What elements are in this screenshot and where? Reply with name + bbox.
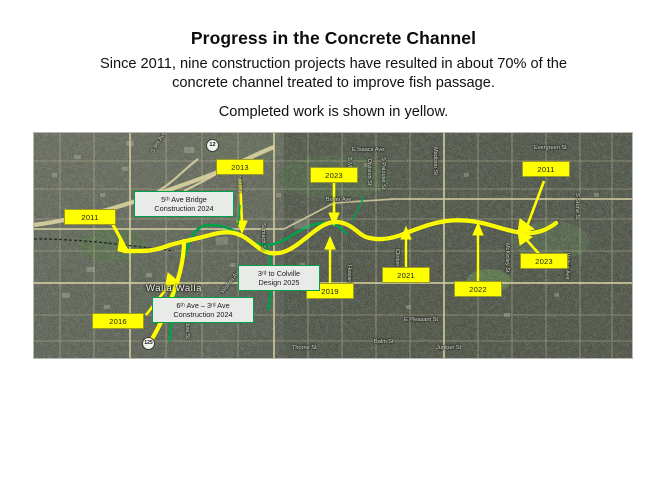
year-label-2022[interactable]: 2022 — [454, 281, 502, 297]
project-label-5th-ave-bridge[interactable]: 5ᵗʰ Ave Bridge Construction 2024 — [134, 191, 234, 217]
year-label-2011-west[interactable]: 2011 — [64, 209, 116, 225]
project-label-3rd-to-colville[interactable]: 3ʳᵈ to Colville Design 2025 — [238, 265, 320, 291]
highway-shield-sr-125[interactable]: 125 — [142, 337, 155, 350]
highway-shield-us-12[interactable]: 12 — [206, 139, 219, 152]
page-title: Progress in the Concrete Channel — [0, 28, 667, 48]
year-label-2023-north[interactable]: 2023 — [310, 167, 358, 183]
project-label-line2: Construction 2024 — [159, 310, 247, 319]
slide-subtitle: Since 2011, nine construction projects h… — [0, 55, 667, 94]
year-label-2013[interactable]: 2013 — [216, 159, 264, 175]
project-label-line2: Construction 2024 — [141, 204, 227, 213]
project-label-line1: 6ᵗʰ Ave – 3ʳᵈ Ave — [176, 301, 229, 310]
aerial-map[interactable]: 2011 2013 2023 2011 2023 2019 2021 2022 … — [34, 133, 632, 358]
slide-canvas: Progress in the Concrete Channel Since 2… — [0, 0, 667, 500]
subtitle-line-1: Since 2011, nine construction projects h… — [100, 56, 567, 72]
subtitle-line-2: concrete channel treated to improve fish… — [172, 75, 495, 91]
year-label-2011-east[interactable]: 2011 — [522, 161, 570, 177]
legend-note: Completed work is shown in yellow. — [0, 103, 667, 122]
project-label-line1: 5ᵗʰ Ave Bridge — [161, 195, 207, 204]
slide-header: Progress in the Concrete Channel Since 2… — [0, 0, 667, 122]
project-label-6th-to-3rd[interactable]: 6ᵗʰ Ave – 3ʳᵈ Ave Construction 2024 — [152, 297, 254, 323]
year-label-2021[interactable]: 2021 — [382, 267, 430, 283]
year-label-2016[interactable]: 2016 — [92, 313, 144, 329]
project-label-line2: Design 2025 — [245, 278, 313, 287]
project-label-line1: 3ʳᵈ to Colville — [258, 269, 300, 278]
year-label-2023-east[interactable]: 2023 — [520, 253, 568, 269]
